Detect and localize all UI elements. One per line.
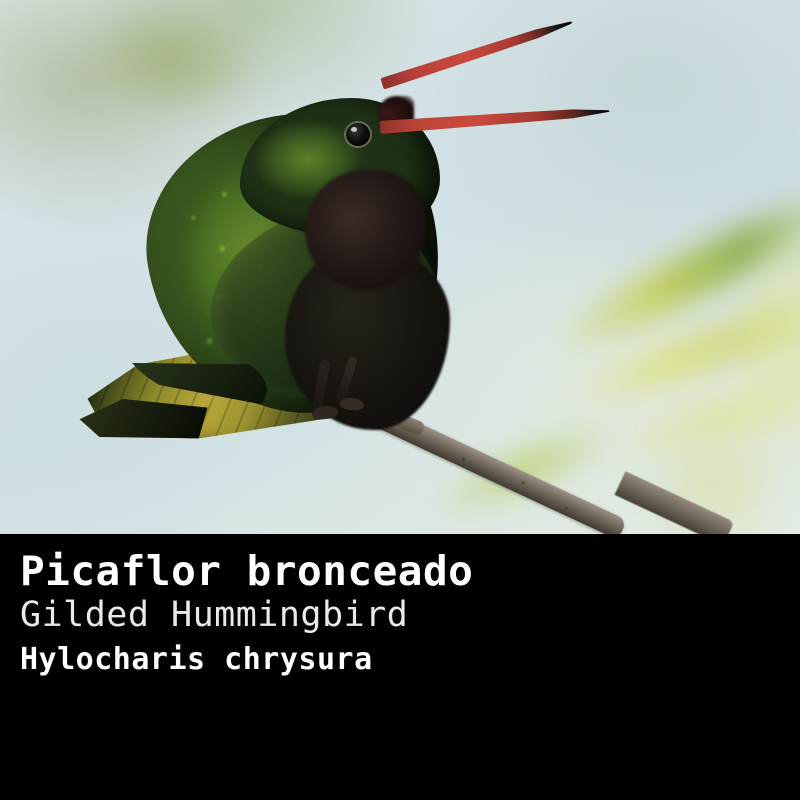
caption-banner: Picaflor bronceado Gilded Hummingbird Hy… xyxy=(0,534,800,800)
common-name-english: Gilded Hummingbird xyxy=(20,594,620,636)
bird-eye-glint xyxy=(351,127,357,132)
common-name-spanish: Picaflor bronceado xyxy=(20,548,620,594)
bird-eye xyxy=(346,123,370,146)
hummingbird-photograph xyxy=(0,0,800,534)
species-photo-card: Picaflor bronceado Gilded Hummingbird Hy… xyxy=(0,0,800,800)
gilded-hummingbird xyxy=(90,60,560,480)
species-name-block: Picaflor bronceado Gilded Hummingbird Hy… xyxy=(20,548,620,680)
scientific-name: Hylocharis chrysura xyxy=(20,640,620,680)
bird-throat xyxy=(305,170,425,290)
